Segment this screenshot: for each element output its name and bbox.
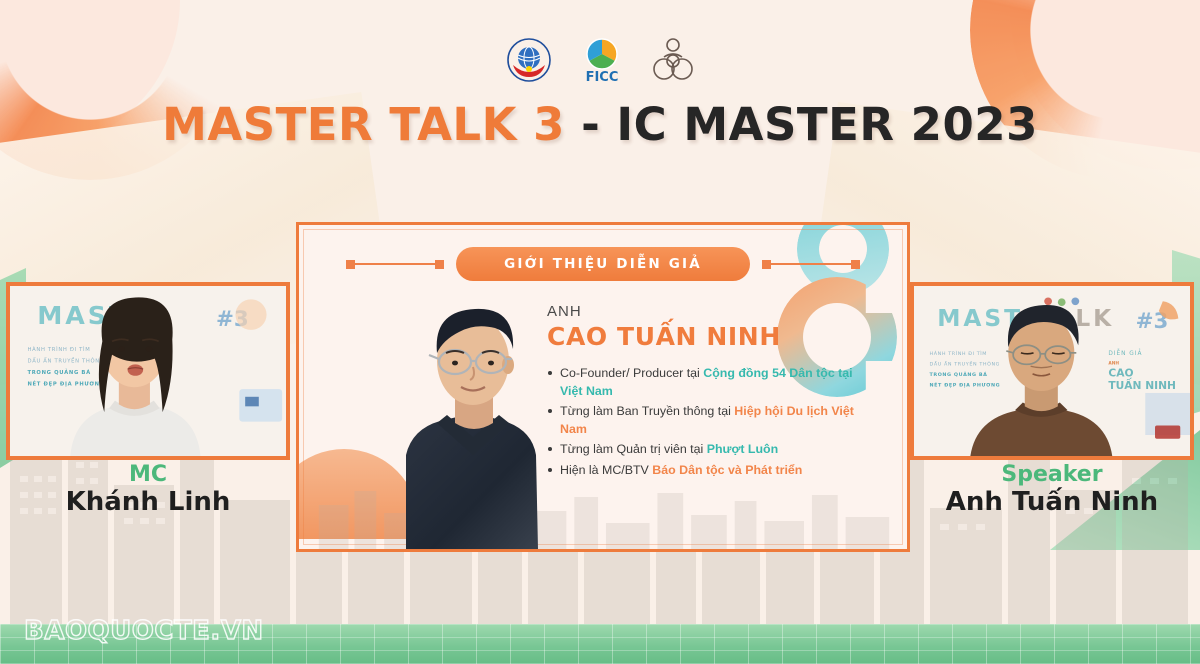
mc-role-label: MC <box>6 462 290 487</box>
speaker-portrait-photo <box>351 279 561 549</box>
credential-text-plain: Từng làm Ban Truyền thông tại <box>560 404 734 418</box>
credential-text-plain: Từng làm Quản trị viên tại <box>560 442 707 456</box>
svg-text:LK: LK <box>1075 306 1114 332</box>
video-panel-mc[interactable]: MASTE #3 HÀNH TRÌNH ĐI TÌM DẤU ẤN TRUYỀN… <box>6 282 290 460</box>
svg-text:HÀNH TRÌNH ĐI TÌM: HÀNH TRÌNH ĐI TÌM <box>930 350 987 357</box>
svg-text:HÀNH TRÌNH ĐI TÌM: HÀNH TRÌNH ĐI TÌM <box>27 346 90 353</box>
credential-text-plain: Co-Founder/ Producer tại <box>560 366 703 380</box>
speaker-intro-card: GIỚI THIỆU DIỄN GIẢ <box>296 222 910 552</box>
vietnam-globe-emblem-icon <box>507 38 551 82</box>
speaker-name: CAO TUẤN NINH <box>547 322 877 351</box>
top-left-orange-arc <box>0 0 240 180</box>
svg-text:TUẤN NINH: TUẤN NINH <box>1108 377 1176 392</box>
decorative-square-left-end <box>435 260 444 269</box>
mc-name-label: Khánh Linh <box>6 487 290 518</box>
page-title: MASTER TALK 3 - IC MASTER 2023 <box>0 98 1200 151</box>
presentation-slide: FICC MASTER TALK 3 - IC MASTER 2023 <box>0 0 1200 664</box>
top-right-orange-arc <box>970 0 1200 180</box>
credential-text-teal: Phượt Luôn <box>707 442 778 456</box>
decorative-square-left <box>346 260 355 269</box>
video-panel-speaker[interactable]: MASTE LK #3 HÀNH TRÌNH ĐI TÌM DẤU ẤN TRU… <box>910 282 1194 460</box>
svg-text:TRONG QUẢNG BÁ: TRONG QUẢNG BÁ <box>27 368 90 376</box>
credential-text-orange: Báo Dân tộc và Phát triển <box>652 463 802 477</box>
logo-row: FICC <box>0 36 1200 84</box>
svg-text:NÉT ĐẸP ĐỊA PHƯƠNG: NÉT ĐẸP ĐỊA PHƯƠNG <box>27 379 104 387</box>
svg-text:ANH: ANH <box>1108 360 1119 366</box>
speaker-video-feed: MASTE LK #3 HÀNH TRÌNH ĐI TÌM DẤU ẤN TRU… <box>914 286 1190 456</box>
decorative-square-right-end <box>851 260 860 269</box>
svg-text:DIỄN GIẢ: DIỄN GIẢ <box>1108 349 1142 357</box>
speaker-info-block: ANH CAO TUẤN NINH Co-Founder/ Producer t… <box>547 303 877 483</box>
credential-item: Co-Founder/ Producer tại Cộng đồng 54 Dâ… <box>547 365 877 400</box>
decorative-bar-left <box>355 263 435 265</box>
title-orange-part: MASTER TALK 3 <box>162 98 565 151</box>
svg-text:FICC: FICC <box>586 70 619 84</box>
credential-item: Hiện là MC/BTV Báo Dân tộc và Phát triển <box>547 462 877 480</box>
credential-item: Từng làm Quản trị viên tại Phượt Luôn <box>547 441 877 459</box>
svg-text:DẤU ẤN TRUYỀN THÔNG: DẤU ẤN TRUYỀN THÔNG <box>27 356 104 364</box>
credential-text-plain: Hiện là MC/BTV <box>560 463 652 477</box>
ficc-logo-icon: FICC <box>579 36 625 84</box>
decorative-bar-right <box>771 263 851 265</box>
speaker-name-label: Anh Tuấn Ninh <box>910 487 1194 518</box>
figure-line-art-logo-icon <box>653 37 693 83</box>
speaker-credentials-list: Co-Founder/ Producer tại Cộng đồng 54 Dâ… <box>547 365 877 480</box>
mc-video-feed: MASTE #3 HÀNH TRÌNH ĐI TÌM DẤU ẤN TRUYỀN… <box>10 286 286 456</box>
speaker-prefix-label: ANH <box>547 303 877 320</box>
svg-text:CAO: CAO <box>1108 368 1133 380</box>
title-dark-part: - IC MASTER 2023 <box>565 98 1038 151</box>
decorative-square-right <box>762 260 771 269</box>
mc-caption: MC Khánh Linh <box>6 462 290 518</box>
credential-item: Từng làm Ban Truyền thông tại Hiệp hội D… <box>547 403 877 438</box>
speaker-role-label: Speaker <box>910 462 1194 487</box>
site-watermark: BAOQUOCTE.VN <box>24 616 264 646</box>
speaker-caption: Speaker Anh Tuấn Ninh <box>910 462 1194 518</box>
card-header-row: GIỚI THIỆU DIỄN GIẢ <box>299 247 907 281</box>
left-decorative-line <box>346 260 444 269</box>
right-decorative-line <box>762 260 860 269</box>
section-pill-label: GIỚI THIỆU DIỄN GIẢ <box>456 247 750 281</box>
